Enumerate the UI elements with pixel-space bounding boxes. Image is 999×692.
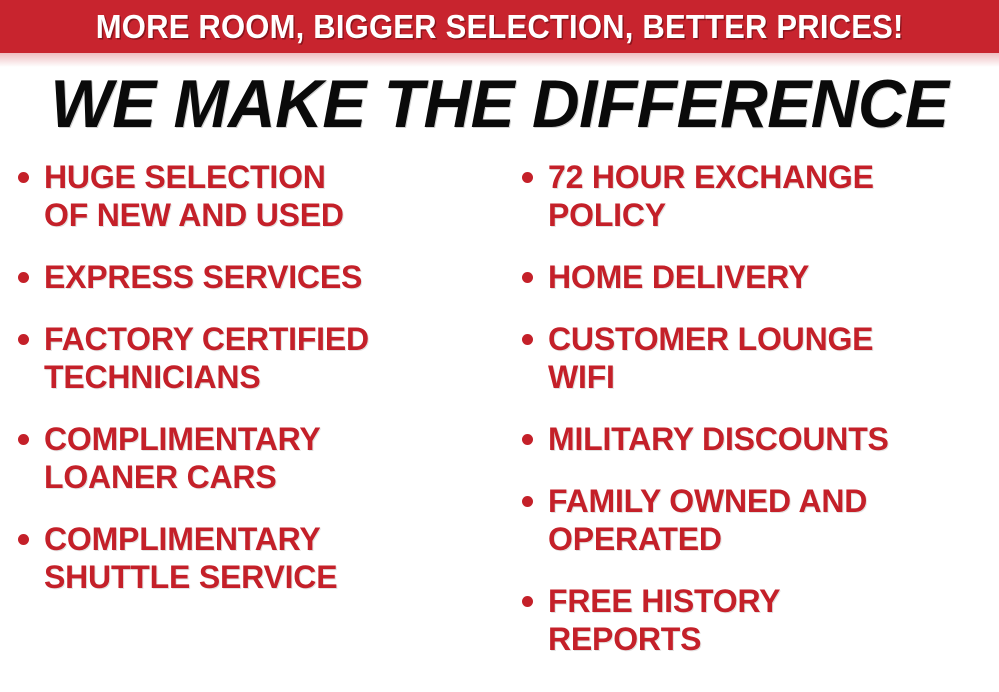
bullet-dot-icon xyxy=(522,172,533,183)
list-item: CUSTOMER LOUNGE WIFI xyxy=(522,320,999,396)
bullet-dot-icon xyxy=(522,596,533,607)
list-item: FACTORY CERTIFIED TECHNICIANS xyxy=(18,320,506,396)
list-item: COMPLIMENTARY SHUTTLE SERVICE xyxy=(18,520,506,596)
bullet-dot-icon xyxy=(18,334,29,345)
list-item: HOME DELIVERY xyxy=(522,258,999,296)
list-item: HUGE SELECTION OF NEW AND USED xyxy=(18,158,506,234)
list-item: FREE HISTORY REPORTS xyxy=(522,582,999,658)
bullet-dot-icon xyxy=(522,496,533,507)
list-item-label: COMPLIMENTARY SHUTTLE SERVICE xyxy=(44,520,506,596)
list-item-label: COMPLIMENTARY LOANER CARS xyxy=(44,420,506,496)
list-item-label: CUSTOMER LOUNGE WIFI xyxy=(548,320,999,396)
list-item-label: MILITARY DISCOUNTS xyxy=(548,420,999,458)
list-item-label: FREE HISTORY REPORTS xyxy=(548,582,999,658)
benefits-column-right: 72 HOUR EXCHANGE POLICY HOME DELIVERY CU… xyxy=(506,158,999,692)
list-item-label: HUGE SELECTION OF NEW AND USED xyxy=(44,158,506,234)
bullet-dot-icon xyxy=(18,434,29,445)
bullet-dot-icon xyxy=(18,534,29,545)
bullet-dot-icon xyxy=(18,172,29,183)
benefits-columns: HUGE SELECTION OF NEW AND USED EXPRESS S… xyxy=(0,158,999,692)
promo-banner-text: MORE ROOM, BIGGER SELECTION, BETTER PRIC… xyxy=(96,10,904,43)
list-item-label: FACTORY CERTIFIED TECHNICIANS xyxy=(44,320,506,396)
bullet-dot-icon xyxy=(522,334,533,345)
list-item: MILITARY DISCOUNTS xyxy=(522,420,999,458)
list-item: FAMILY OWNED AND OPERATED xyxy=(522,482,999,558)
list-item: EXPRESS SERVICES xyxy=(18,258,506,296)
list-item-label: HOME DELIVERY xyxy=(548,258,999,296)
benefits-column-left: HUGE SELECTION OF NEW AND USED EXPRESS S… xyxy=(0,158,506,692)
page-title: WE MAKE THE DIFFERENCE xyxy=(15,68,984,140)
bullet-dot-icon xyxy=(18,272,29,283)
promo-banner: MORE ROOM, BIGGER SELECTION, BETTER PRIC… xyxy=(0,0,999,53)
banner-fade-divider xyxy=(0,53,999,67)
bullet-dot-icon xyxy=(522,434,533,445)
bullet-dot-icon xyxy=(522,272,533,283)
list-item-label: 72 HOUR EXCHANGE POLICY xyxy=(548,158,999,234)
list-item: 72 HOUR EXCHANGE POLICY xyxy=(522,158,999,234)
list-item-label: FAMILY OWNED AND OPERATED xyxy=(548,482,999,558)
list-item-label: EXPRESS SERVICES xyxy=(44,258,506,296)
list-item: COMPLIMENTARY LOANER CARS xyxy=(18,420,506,496)
dealership-advertisement: MORE ROOM, BIGGER SELECTION, BETTER PRIC… xyxy=(0,0,999,692)
